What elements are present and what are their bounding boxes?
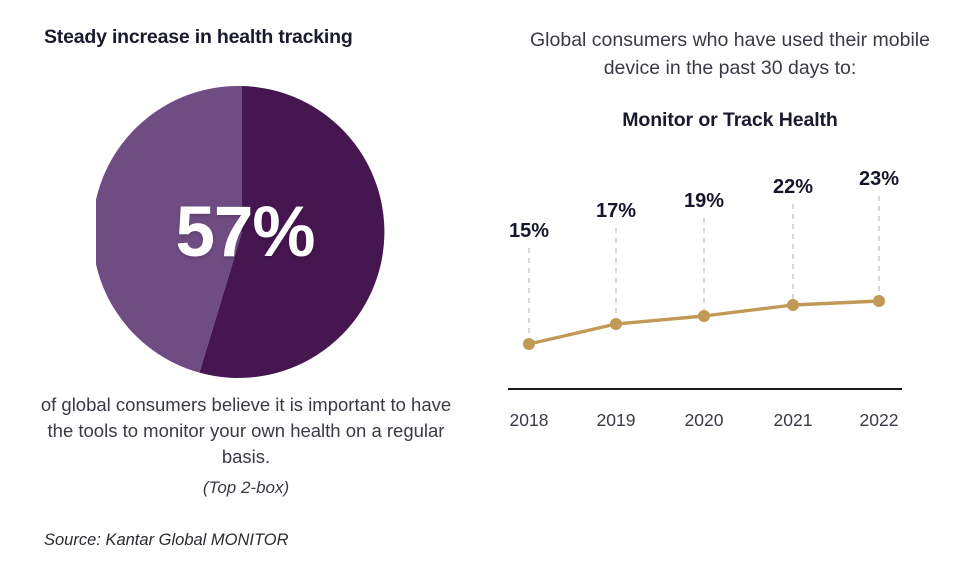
data-point-2018 (523, 338, 535, 350)
data-label-2020: 19% (684, 190, 724, 212)
pie-footnote: (Top 2-box) (36, 478, 456, 498)
data-label-2018: 15% (509, 220, 549, 242)
chart-intro-text: Global consumers who have used their mob… (510, 26, 950, 82)
source-attribution: Source: Kantar Global MONITOR (44, 531, 289, 550)
pie-chart: 57% (96, 86, 388, 378)
line-chart: 15% 17% 19% 22% 23% 2018 2019 2020 2021 … (490, 150, 966, 450)
pie-description: of global consumers believe it is import… (36, 392, 456, 470)
data-label-2019: 17% (596, 200, 636, 222)
x-label-2020: 2020 (685, 410, 724, 430)
left-panel: Steady increase in health tracking 57% o… (0, 0, 490, 585)
right-panel: Global consumers who have used their mob… (490, 0, 966, 585)
data-point-2022 (873, 295, 885, 307)
x-label-2019: 2019 (597, 410, 636, 430)
x-axis-labels: 2018 2019 2020 2021 2022 (510, 410, 899, 430)
page-title: Steady increase in health tracking (44, 26, 464, 49)
data-label-2021: 22% (773, 176, 813, 198)
data-label-2022: 23% (859, 168, 899, 190)
data-point-2021 (787, 299, 799, 311)
data-point-2020 (698, 310, 710, 322)
chart-title: Monitor or Track Health (510, 109, 950, 132)
x-label-2022: 2022 (860, 410, 899, 430)
x-label-2018: 2018 (510, 410, 549, 430)
data-point-2019 (610, 318, 622, 330)
x-label-2021: 2021 (774, 410, 813, 430)
series-line-monitor-track-health (529, 301, 879, 344)
